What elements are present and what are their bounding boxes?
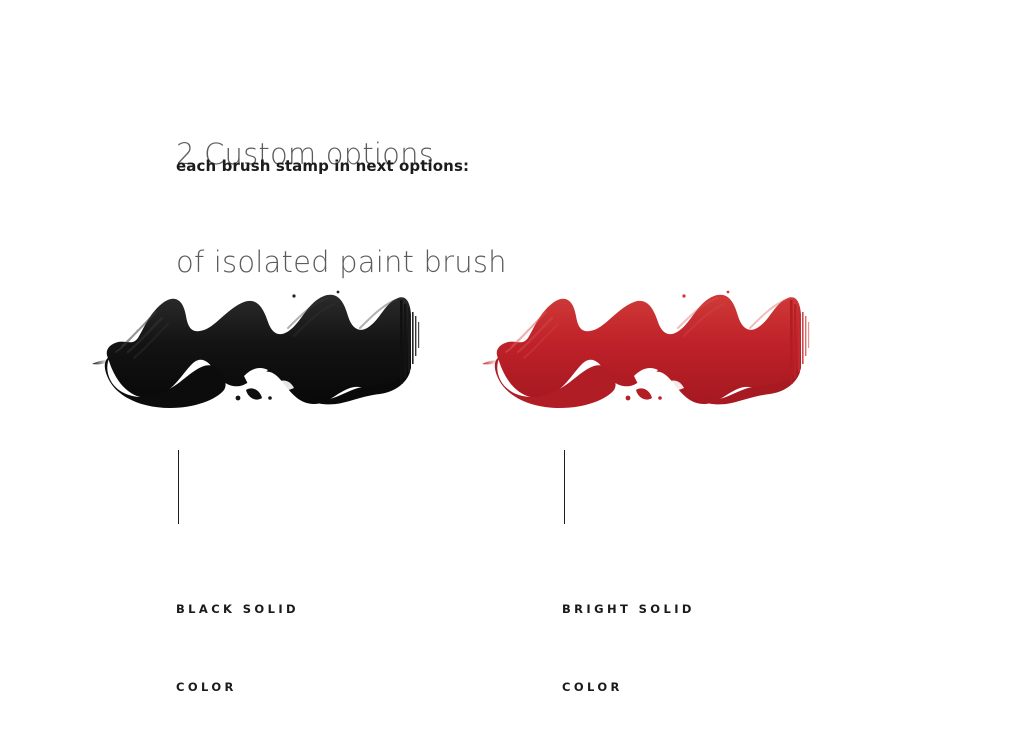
- caption-text: BLACK SOLID COLOR: [176, 544, 299, 752]
- caption-rule: [564, 450, 565, 524]
- paint-brush-stroke-icon: [478, 272, 818, 422]
- subheading: each brush stamp in next options:: [176, 156, 469, 176]
- brush-swatch-black: [88, 272, 428, 422]
- paint-brush-stroke-icon: [88, 272, 428, 422]
- caption-text: BRIGHT SOLID COLOR: [562, 544, 695, 752]
- caption-line-1: BRIGHT SOLID: [562, 596, 695, 622]
- caption-bright-solid-color: BRIGHT SOLID COLOR: [562, 450, 695, 752]
- caption-rule: [178, 450, 179, 524]
- brush-swatch-red: [478, 272, 818, 422]
- poster-canvas: 2 Custom options of isolated paint brush…: [0, 0, 1024, 685]
- caption-line-1: BLACK SOLID: [176, 596, 299, 622]
- caption-black-solid-color: BLACK SOLID COLOR: [176, 450, 299, 752]
- caption-line-2: COLOR: [176, 674, 299, 700]
- caption-line-2: COLOR: [562, 674, 695, 700]
